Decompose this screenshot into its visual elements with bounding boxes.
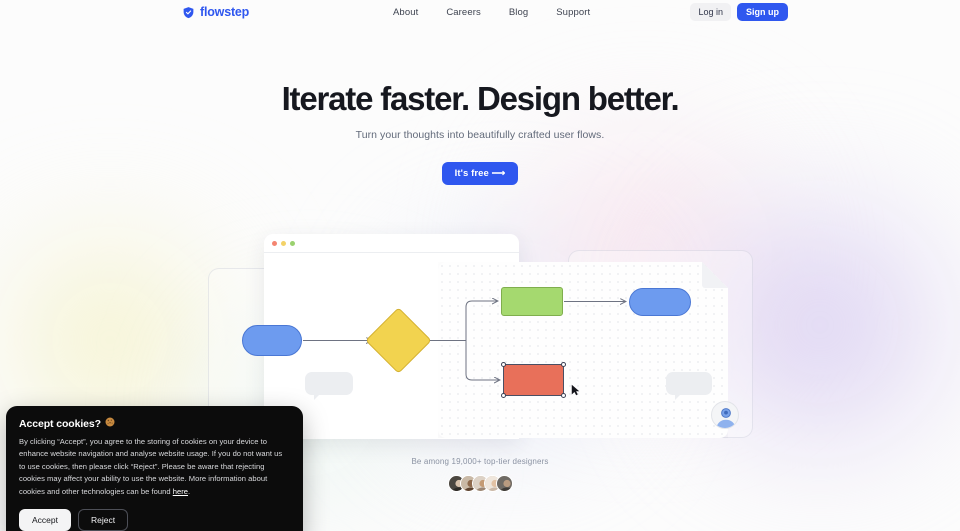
flow-node-green[interactable] (501, 287, 563, 316)
window-maximize-dot[interactable] (290, 241, 295, 246)
hero-section: Iterate faster. Design better. Turn your… (0, 80, 960, 185)
pointer-arrow-icon (571, 383, 580, 395)
nav-link-about[interactable]: About (393, 7, 418, 18)
main-nav: About Careers Blog Support (393, 7, 590, 18)
flow-canvas-panel (438, 262, 728, 438)
cookie-consent-banner: Accept cookies? By clicking “Accept”, yo… (6, 406, 303, 531)
resize-handle-tl[interactable] (501, 362, 506, 367)
hero-cta-wrap: It's free ⟶ (0, 162, 960, 185)
cookie-banner-title-text: Accept cookies? (19, 418, 101, 430)
resize-handle-br[interactable] (561, 393, 566, 398)
nav-link-support[interactable]: Support (556, 7, 590, 18)
auth-actions: Log in Sign up (690, 3, 788, 21)
cookie-banner-title: Accept cookies? (19, 417, 290, 430)
browser-titlebar (264, 234, 519, 253)
flow-node-red-selected[interactable] (503, 364, 564, 396)
brand-name: flowstep (200, 5, 249, 19)
nav-link-blog[interactable]: Blog (509, 7, 528, 18)
resize-handle-bl[interactable] (501, 393, 506, 398)
sign-up-button[interactable]: Sign up (737, 3, 788, 21)
cookie-banner-body: By clicking “Accept”, you agree to the s… (19, 436, 290, 498)
flow-node-blue-end[interactable] (629, 288, 691, 316)
cookie-banner-actions: Accept Reject (19, 509, 290, 531)
nav-link-careers[interactable]: Careers (446, 7, 481, 18)
placeholder-bubble-right (666, 372, 712, 395)
cookie-policy-link[interactable]: here (173, 487, 188, 496)
flow-node-start[interactable] (242, 325, 302, 356)
landing-page: flowstep About Careers Blog Support Log … (0, 0, 960, 531)
cookie-body-part2: . (188, 487, 190, 496)
accept-cookies-button[interactable]: Accept (19, 509, 71, 531)
shield-check-icon (182, 6, 195, 19)
user-avatar-icon[interactable] (711, 401, 739, 429)
cookie-icon (105, 417, 115, 430)
hero-subtitle: Turn your thoughts into beautifully craf… (0, 129, 960, 141)
site-header: flowstep About Careers Blog Support Log … (0, 0, 960, 24)
placeholder-bubble-left (305, 372, 353, 395)
cookie-body-part1: By clicking “Accept”, you agree to the s… (19, 437, 282, 496)
reject-cookies-button[interactable]: Reject (78, 509, 128, 531)
its-free-cta-button[interactable]: It's free ⟶ (442, 162, 519, 185)
brand-logo[interactable]: flowstep (182, 5, 249, 19)
resize-handle-tr[interactable] (561, 362, 566, 367)
window-close-dot[interactable] (272, 241, 277, 246)
log-in-button[interactable]: Log in (690, 3, 731, 21)
avatar (496, 475, 513, 492)
page-title: Iterate faster. Design better. (0, 80, 960, 118)
window-minimize-dot[interactable] (281, 241, 286, 246)
